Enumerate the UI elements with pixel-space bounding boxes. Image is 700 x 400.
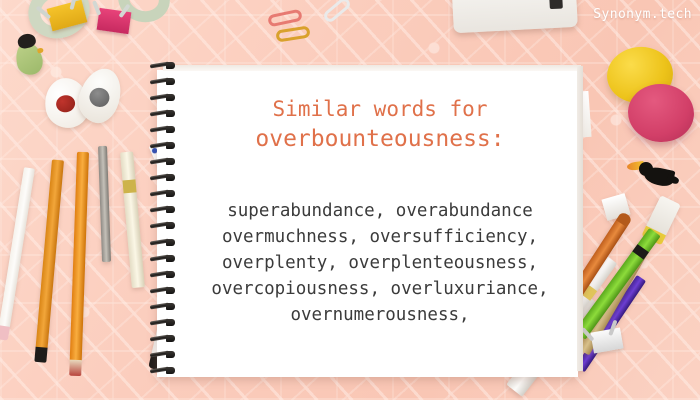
page-title-line1: Similar words for xyxy=(195,96,565,123)
toucan-sticker-icon xyxy=(634,158,676,192)
screenshot-root: Similar words for overbounteousness: sup… xyxy=(0,0,700,400)
page-title-headword: overbounteousness: xyxy=(195,125,565,155)
synonym-line: overmuchness, oversufficiency, xyxy=(195,225,565,251)
pink-binder-clip-icon xyxy=(97,8,132,34)
synonym-line: overplenty, overplenteousness, xyxy=(195,251,565,277)
notebook-sheet-top-edge xyxy=(163,65,581,71)
synonym-line: overcopiousness, overluxuriance, xyxy=(195,277,565,303)
page-content: Similar words for overbounteousness: sup… xyxy=(195,78,565,368)
synonym-line: overnumerousness, xyxy=(195,303,565,329)
synonym-line: superabundance, overabundance xyxy=(195,199,565,225)
synonym-list: superabundance, overabundance overmuchne… xyxy=(195,199,565,328)
site-watermark: Synonym.tech xyxy=(593,7,692,22)
notebook-sheet-right-edge xyxy=(577,66,583,371)
